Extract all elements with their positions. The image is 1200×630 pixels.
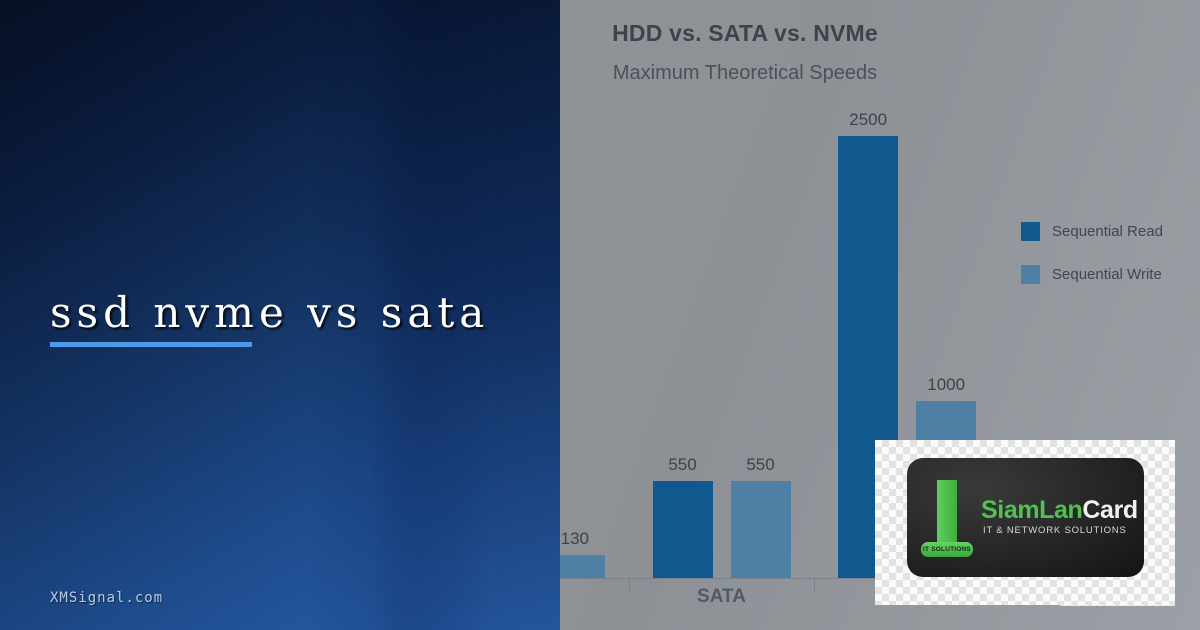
- logo-wordmark-primary: SiamLan: [981, 496, 1082, 524]
- overlay-headline: ssd nvme vs sata: [50, 288, 489, 337]
- bar-sata-sequential-read: [653, 481, 713, 578]
- logo-tagline: IT & NETWORK SOLUTIONS: [983, 525, 1127, 536]
- x-axis-tick-mark: [814, 578, 815, 592]
- overlay-headline-underline: [50, 342, 252, 347]
- siamlancard-logo-overlay: IT SOLUTIONS SiamLanCard IT & NETWORK SO…: [875, 440, 1175, 605]
- bar-value-label: 130: [561, 529, 589, 549]
- site-watermark: XMSignal.com: [50, 590, 163, 606]
- bar-value-label: 550: [746, 455, 774, 475]
- logo-card: IT SOLUTIONS SiamLanCard IT & NETWORK SO…: [907, 458, 1144, 577]
- logo-green-bar-icon: [937, 480, 957, 550]
- legend-color-swatch: [1021, 265, 1040, 284]
- logo-it-solutions-badge: IT SOLUTIONS: [921, 542, 973, 557]
- bar-value-label: 550: [668, 455, 696, 475]
- x-axis-category-sata: SATA: [697, 586, 746, 608]
- bar-value-label: 1000: [927, 375, 965, 395]
- legend-label: Sequential Read: [1052, 223, 1163, 240]
- x-axis-tick-mark: [629, 578, 630, 592]
- bar-sata-sequential-write: [731, 481, 791, 578]
- legend-color-swatch: [1021, 222, 1040, 241]
- chart-legend: Sequential ReadSequential Write: [1021, 222, 1163, 284]
- bar-value-label: 2500: [849, 110, 887, 130]
- logo-wordmark: SiamLanCard: [981, 496, 1138, 525]
- legend-item[interactable]: Sequential Write: [1021, 265, 1163, 284]
- logo-wordmark-secondary: Card: [1082, 496, 1137, 524]
- legend-label: Sequential Write: [1052, 266, 1162, 283]
- legend-item[interactable]: Sequential Read: [1021, 222, 1163, 241]
- screenshot-canvas: HDD vs. SATA vs. NVMe Maximum Theoretica…: [0, 0, 1200, 630]
